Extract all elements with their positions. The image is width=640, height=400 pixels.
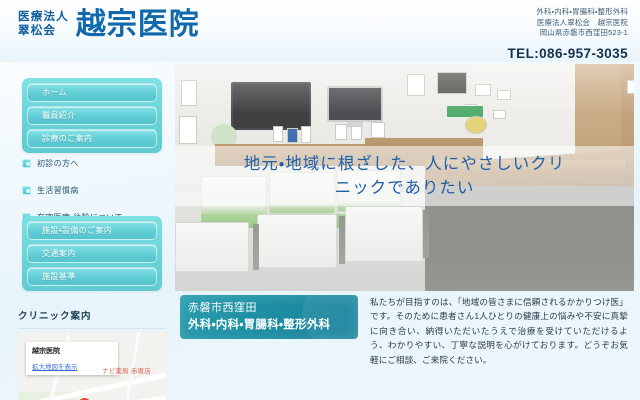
photo-chair-leg	[339, 216, 345, 264]
hero-banner[interactable]: 地元・地域に根ざした、人にやさしいクリ ニックでありたい	[175, 64, 634, 291]
divider	[18, 328, 166, 329]
logo-prefix-line1: 医療法人	[18, 11, 69, 25]
header-org-name: 医療法人翠松会 越宗医院	[508, 18, 628, 29]
photo-television-large	[231, 82, 311, 130]
sidebar-item-home-label: ホーム	[28, 87, 67, 98]
photo-chair-leg	[423, 210, 429, 258]
header-address: 岡山県赤磐市西窪田523-1	[508, 28, 628, 39]
logo-prefix-line2: 翠松会	[18, 25, 69, 39]
photo-leaflet	[287, 128, 298, 143]
nav-group-secondary: 施設・設備のご案内 交通案内 施設基準	[22, 216, 162, 291]
clinic-map[interactable]: 越宗医院 拡大地図を表示 ナビ薬局 赤坂店 越宗医院	[18, 332, 166, 400]
bullet-square-icon	[22, 186, 31, 195]
intro-paragraph: 私たちが目指すのは、「地域の皆さまに信頼されるかかりつけ医」です。そのために患者…	[370, 295, 628, 367]
hero-headline-line1: 地元・地域に根ざした、人にやさしいクリ	[244, 152, 566, 176]
sidebar-item-staff[interactable]: 職員紹介	[27, 106, 157, 125]
photo-chair	[175, 222, 249, 272]
photo-chair	[345, 206, 423, 262]
clinic-info-header: クリニック案内	[18, 308, 166, 329]
sidebar-item-facilities-label: 施設・設備のご案内	[28, 225, 112, 236]
hero-headline-band: 地元・地域に根ざした、人にやさしいクリ ニックでありたい	[175, 146, 634, 206]
bullet-square-icon	[22, 159, 31, 168]
sidebar-item-first-visit[interactable]: 初診の方へ	[22, 156, 172, 170]
photo-chair	[257, 214, 337, 268]
sidebar-item-treatment-guide-label: 診療のご案内	[28, 133, 92, 144]
photo-television-small	[327, 86, 383, 122]
map-card-title: 越宗医院	[32, 347, 112, 356]
photo-wall-frame	[179, 116, 197, 144]
hero-photo-waiting-room: 地元・地域に根ざした、人にやさしいクリ ニックでありたい	[175, 64, 634, 291]
photo-wall-frame	[437, 72, 467, 94]
sidebar-item-staff-label: 職員紹介	[28, 110, 76, 121]
photo-wall-clock	[465, 116, 487, 134]
photo-wall-frame	[627, 80, 634, 94]
photo-leaflet	[371, 122, 385, 138]
header-contact-info: 外科・内科・胃腸科・整形外科 医療法人翠松会 越宗医院 岡山県赤磐市西窪田523…	[508, 7, 628, 61]
photo-leaflet	[351, 126, 362, 140]
badge-location: 赤磐市西窪田	[188, 300, 358, 317]
sidebar-item-standards[interactable]: 施設基準	[27, 267, 157, 286]
location-department-badge: 赤磐市西窪田 外科・内科・胃腸科・整形外科	[180, 295, 358, 339]
logo-corporation-name: 医療法人 翠松会	[18, 11, 69, 41]
map-poi-label: ナビ薬局 赤坂店	[102, 365, 151, 375]
sidebar-item-access-label: 交通案内	[28, 248, 76, 259]
map-expand-link[interactable]: 拡大地図を表示	[32, 363, 78, 373]
sidebar-item-first-visit-label: 初診の方へ	[37, 158, 79, 169]
photo-wall-frame	[493, 110, 506, 119]
photo-wall-frame	[407, 74, 425, 96]
sidebar-item-facilities[interactable]: 施設・設備のご案内	[27, 221, 157, 240]
hero-headline-line2: ニックでありたい	[335, 176, 475, 200]
clinic-info-heading: クリニック案内	[18, 308, 166, 328]
site-header: 医療法人 翠松会 越宗医院 外科・内科・胃腸科・整形外科 医療法人翠松会 越宗医…	[0, 0, 640, 62]
header-departments: 外科・内科・胃腸科・整形外科	[508, 7, 628, 18]
badge-departments: 外科・内科・胃腸科・整形外科	[188, 317, 358, 334]
intro-text-block: 私たちが目指すのは、「地域の皆さまに信頼されるかかりつけ医」です。そのために患者…	[370, 295, 628, 367]
sidebar-item-treatment-guide[interactable]: 診療のご案内	[27, 129, 157, 148]
nav-group-primary: ホーム 職員紹介 診療のご案内	[22, 78, 162, 153]
sidebar-item-lifestyle-disease-label: 生活習慣病	[37, 185, 79, 196]
header-telephone[interactable]: TEL:086-957-3035	[508, 46, 628, 61]
site-logo[interactable]: 医療法人 翠松会 越宗医院	[18, 9, 200, 41]
sidebar: ホーム 職員紹介 診療のご案内 初診の方へ 生活習慣病 在宅医療・往診について	[0, 62, 175, 400]
logo-clinic-name: 越宗医院	[76, 9, 200, 41]
photo-chair-leg	[253, 224, 259, 270]
sidebar-item-lifestyle-disease[interactable]: 生活習慣病	[22, 183, 172, 197]
photo-leaflet	[301, 126, 311, 143]
photo-wall-frame	[475, 84, 491, 96]
photo-wall-frame	[181, 80, 197, 106]
photo-leaflet	[335, 124, 347, 140]
photo-leaflet	[273, 126, 283, 142]
sidebar-item-home[interactable]: ホーム	[27, 83, 157, 102]
photo-wall-frame	[497, 90, 511, 100]
sidebar-item-access[interactable]: 交通案内	[27, 244, 157, 263]
page-root: 医療法人 翠松会 越宗医院 外科・内科・胃腸科・整形外科 医療法人翠松会 越宗医…	[0, 0, 640, 400]
sidebar-item-standards-label: 施設基準	[28, 271, 76, 282]
